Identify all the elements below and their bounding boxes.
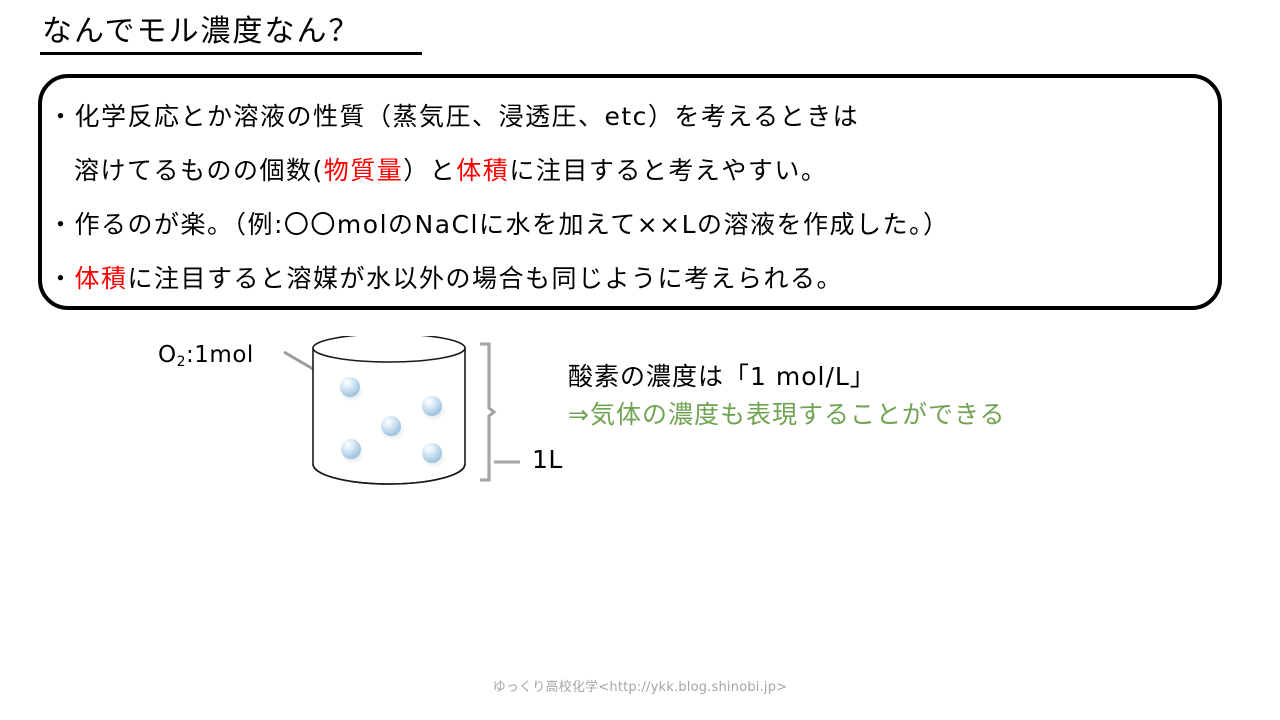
bullet-text: ）と <box>403 156 456 185</box>
bullet-text: に注目すると考えやすい。 <box>509 156 827 185</box>
oxygen-symbol: O <box>158 342 177 368</box>
page-title: なんでモル濃度なん？ <box>42 14 361 50</box>
bullet-text: に注目すると溶媒が水以外の場合も同じように考えられる。 <box>128 264 844 293</box>
bullet-list: ・化学反応とか溶液の性質（蒸気圧、浸透圧、etc）を考えるときは 溶けてるものの… <box>48 90 1218 306</box>
gas-cylinder-diagram <box>308 336 472 492</box>
oxygen-amount: :1mol <box>186 342 254 368</box>
bullet-line-1: ・化学反応とか溶液の性質（蒸気圧、浸透圧、etc）を考えるときは <box>48 90 1218 144</box>
volume-bracket <box>478 340 524 486</box>
footer-credit: ゆっくり高校化学<http://ykk.blog.shinobi.jp> <box>0 676 1280 695</box>
volume-label: 1L <box>532 445 563 475</box>
concentration-note: 酸素の濃度は「1 mol/L」 ⇒気体の濃度も表現することができる <box>568 358 1228 434</box>
bullet-line-4: ・体積に注目すると溶媒が水以外の場合も同じように考えられる。 <box>48 252 1218 306</box>
oxygen-subscript: 2 <box>177 354 186 370</box>
note-line-conclusion: ⇒気体の濃度も表現することができる <box>568 396 1228 434</box>
bullet-line-3: ・作るのが楽。（例:〇〇molのNaClに水を加えて××Lの溶液を作成した。） <box>48 198 1218 252</box>
bullet-line-2: 溶けてるものの個数(物質量）と体積に注目すると考えやすい。 <box>48 144 1218 198</box>
highlight-volume: 体積 <box>456 156 509 185</box>
highlight-amount-of-substance: 物質量 <box>324 156 404 185</box>
bullet-text: 溶けてるものの個数( <box>74 156 324 185</box>
bullet-text: ・作るのが楽。（例:〇〇molのNaClに水を加えて××Lの溶液を作成した。） <box>48 210 950 239</box>
note-line-concentration: 酸素の濃度は「1 mol/L」 <box>568 358 1228 396</box>
bullet-text: ・ <box>48 264 75 293</box>
title-underline <box>40 52 422 55</box>
bullet-text: ・化学反応とか溶液の性質（蒸気圧、浸透圧、etc）を考えるときは <box>48 102 859 131</box>
highlight-volume-2: 体積 <box>75 264 128 293</box>
oxygen-amount-label: O2:1mol <box>158 340 254 377</box>
